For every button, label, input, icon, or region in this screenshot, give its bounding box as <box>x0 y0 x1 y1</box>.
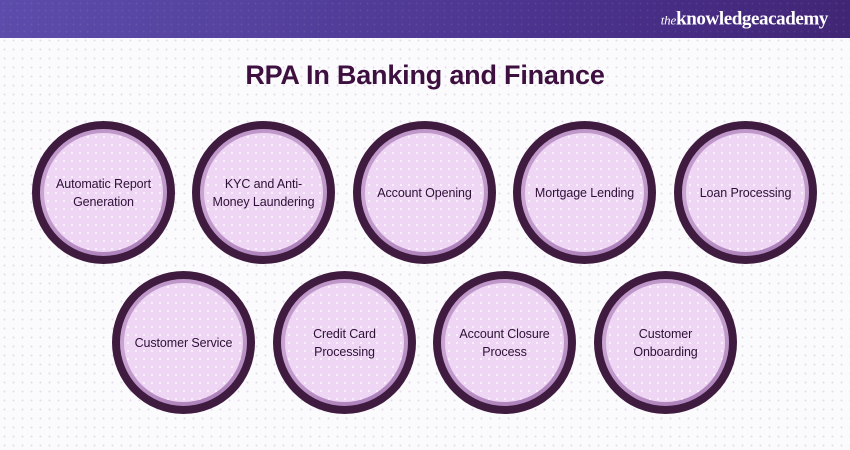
bubble-account-opening: Account Opening <box>353 121 496 264</box>
bubble-disc: Mortgage Lending <box>525 133 644 252</box>
bubble-label: Customer Service <box>130 334 238 352</box>
bubble-label: Credit Card Processing <box>291 325 399 361</box>
bubble-automatic-report-generation: Automatic Report Generation <box>32 121 175 264</box>
bubble-label: Account Closure Process <box>451 325 559 361</box>
bubble-disc: Automatic Report Generation <box>44 133 163 252</box>
bubble-disc: Customer Onboarding <box>606 283 725 402</box>
bubble-label: KYC and Anti-Money Laundering <box>210 175 318 211</box>
bubble-customer-onboarding: Customer Onboarding <box>594 271 737 414</box>
bubble-customer-service: Customer Service <box>112 271 255 414</box>
logo-prefix-text: the <box>661 13 676 28</box>
bubble-disc: Account Closure Process <box>445 283 564 402</box>
bubble-credit-card-processing: Credit Card Processing <box>273 271 416 414</box>
bubble-mortgage-lending: Mortgage Lending <box>513 121 656 264</box>
bubble-disc: Credit Card Processing <box>285 283 404 402</box>
bubble-disc: Loan Processing <box>686 133 805 252</box>
infographic-canvas: theknowledgeacademy RPA In Banking and F… <box>0 0 850 450</box>
brand-header-bar: theknowledgeacademy <box>0 0 850 38</box>
bubble-label: Account Opening <box>371 184 479 202</box>
bubble-label: Mortgage Lending <box>531 184 639 202</box>
bubble-disc: KYC and Anti-Money Laundering <box>204 133 323 252</box>
bubble-label: Automatic Report Generation <box>50 175 158 211</box>
bubble-account-closure-process: Account Closure Process <box>433 271 576 414</box>
bubble-loan-processing: Loan Processing <box>674 121 817 264</box>
bubble-disc: Customer Service <box>124 283 243 402</box>
knowledge-academy-logo: theknowledgeacademy <box>661 10 828 29</box>
bubble-kyc-and-anti-money-laundering: KYC and Anti-Money Laundering <box>192 121 335 264</box>
logo-name-text: knowledgeacademy <box>676 9 828 30</box>
bubble-label: Customer Onboarding <box>612 325 720 361</box>
bubble-disc: Account Opening <box>365 133 484 252</box>
page-title: RPA In Banking and Finance <box>0 58 850 92</box>
bubble-label: Loan Processing <box>692 184 800 202</box>
